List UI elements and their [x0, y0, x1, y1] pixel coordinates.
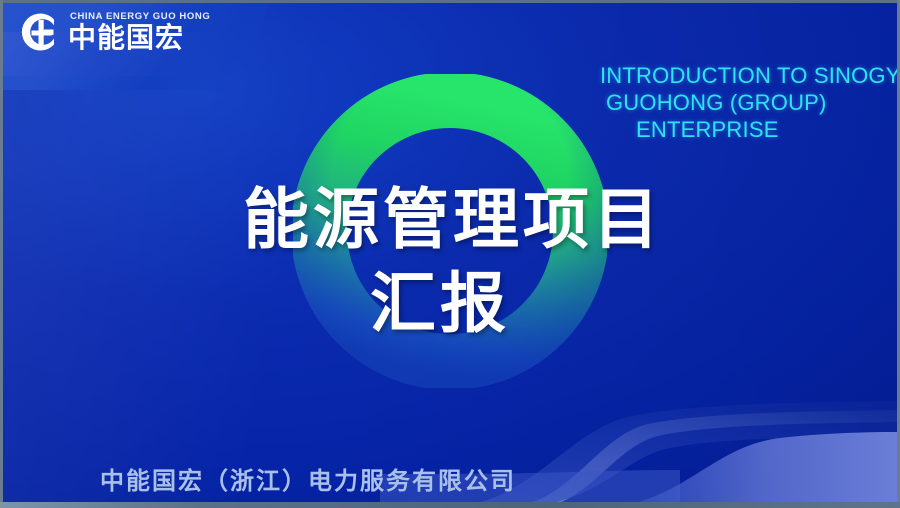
- english-subtitle-line-1: INTRODUCTION TO SINOGY: [600, 62, 900, 89]
- frame-border-bottom: [0, 502, 900, 508]
- green-gradient-ring: [291, 72, 609, 390]
- brand-logo[interactable]: CHINA ENERGY GUO HONG 中能国宏: [14, 8, 210, 56]
- company-name-footer: 中能国宏（浙江）电力服务有限公司: [100, 461, 516, 496]
- presentation-cover-slide: CHINA ENERGY GUO HONG 中能国宏 INTRODUCTION …: [0, 0, 900, 508]
- english-subtitle: INTRODUCTION TO SINOGY GUOHONG (GROUP) E…: [600, 62, 900, 143]
- english-subtitle-line-3: ENTERPRISE: [636, 116, 900, 143]
- china-energy-guo-hong-logo-mark: [14, 8, 62, 56]
- logo-chinese-name: 中能国宏: [68, 24, 210, 52]
- english-subtitle-line-2: GUOHONG (GROUP): [606, 89, 900, 116]
- frame-border-left: [0, 0, 3, 508]
- logo-english-name: CHINA ENERGY GUO HONG: [70, 12, 210, 22]
- frame-border-top: [0, 0, 900, 3]
